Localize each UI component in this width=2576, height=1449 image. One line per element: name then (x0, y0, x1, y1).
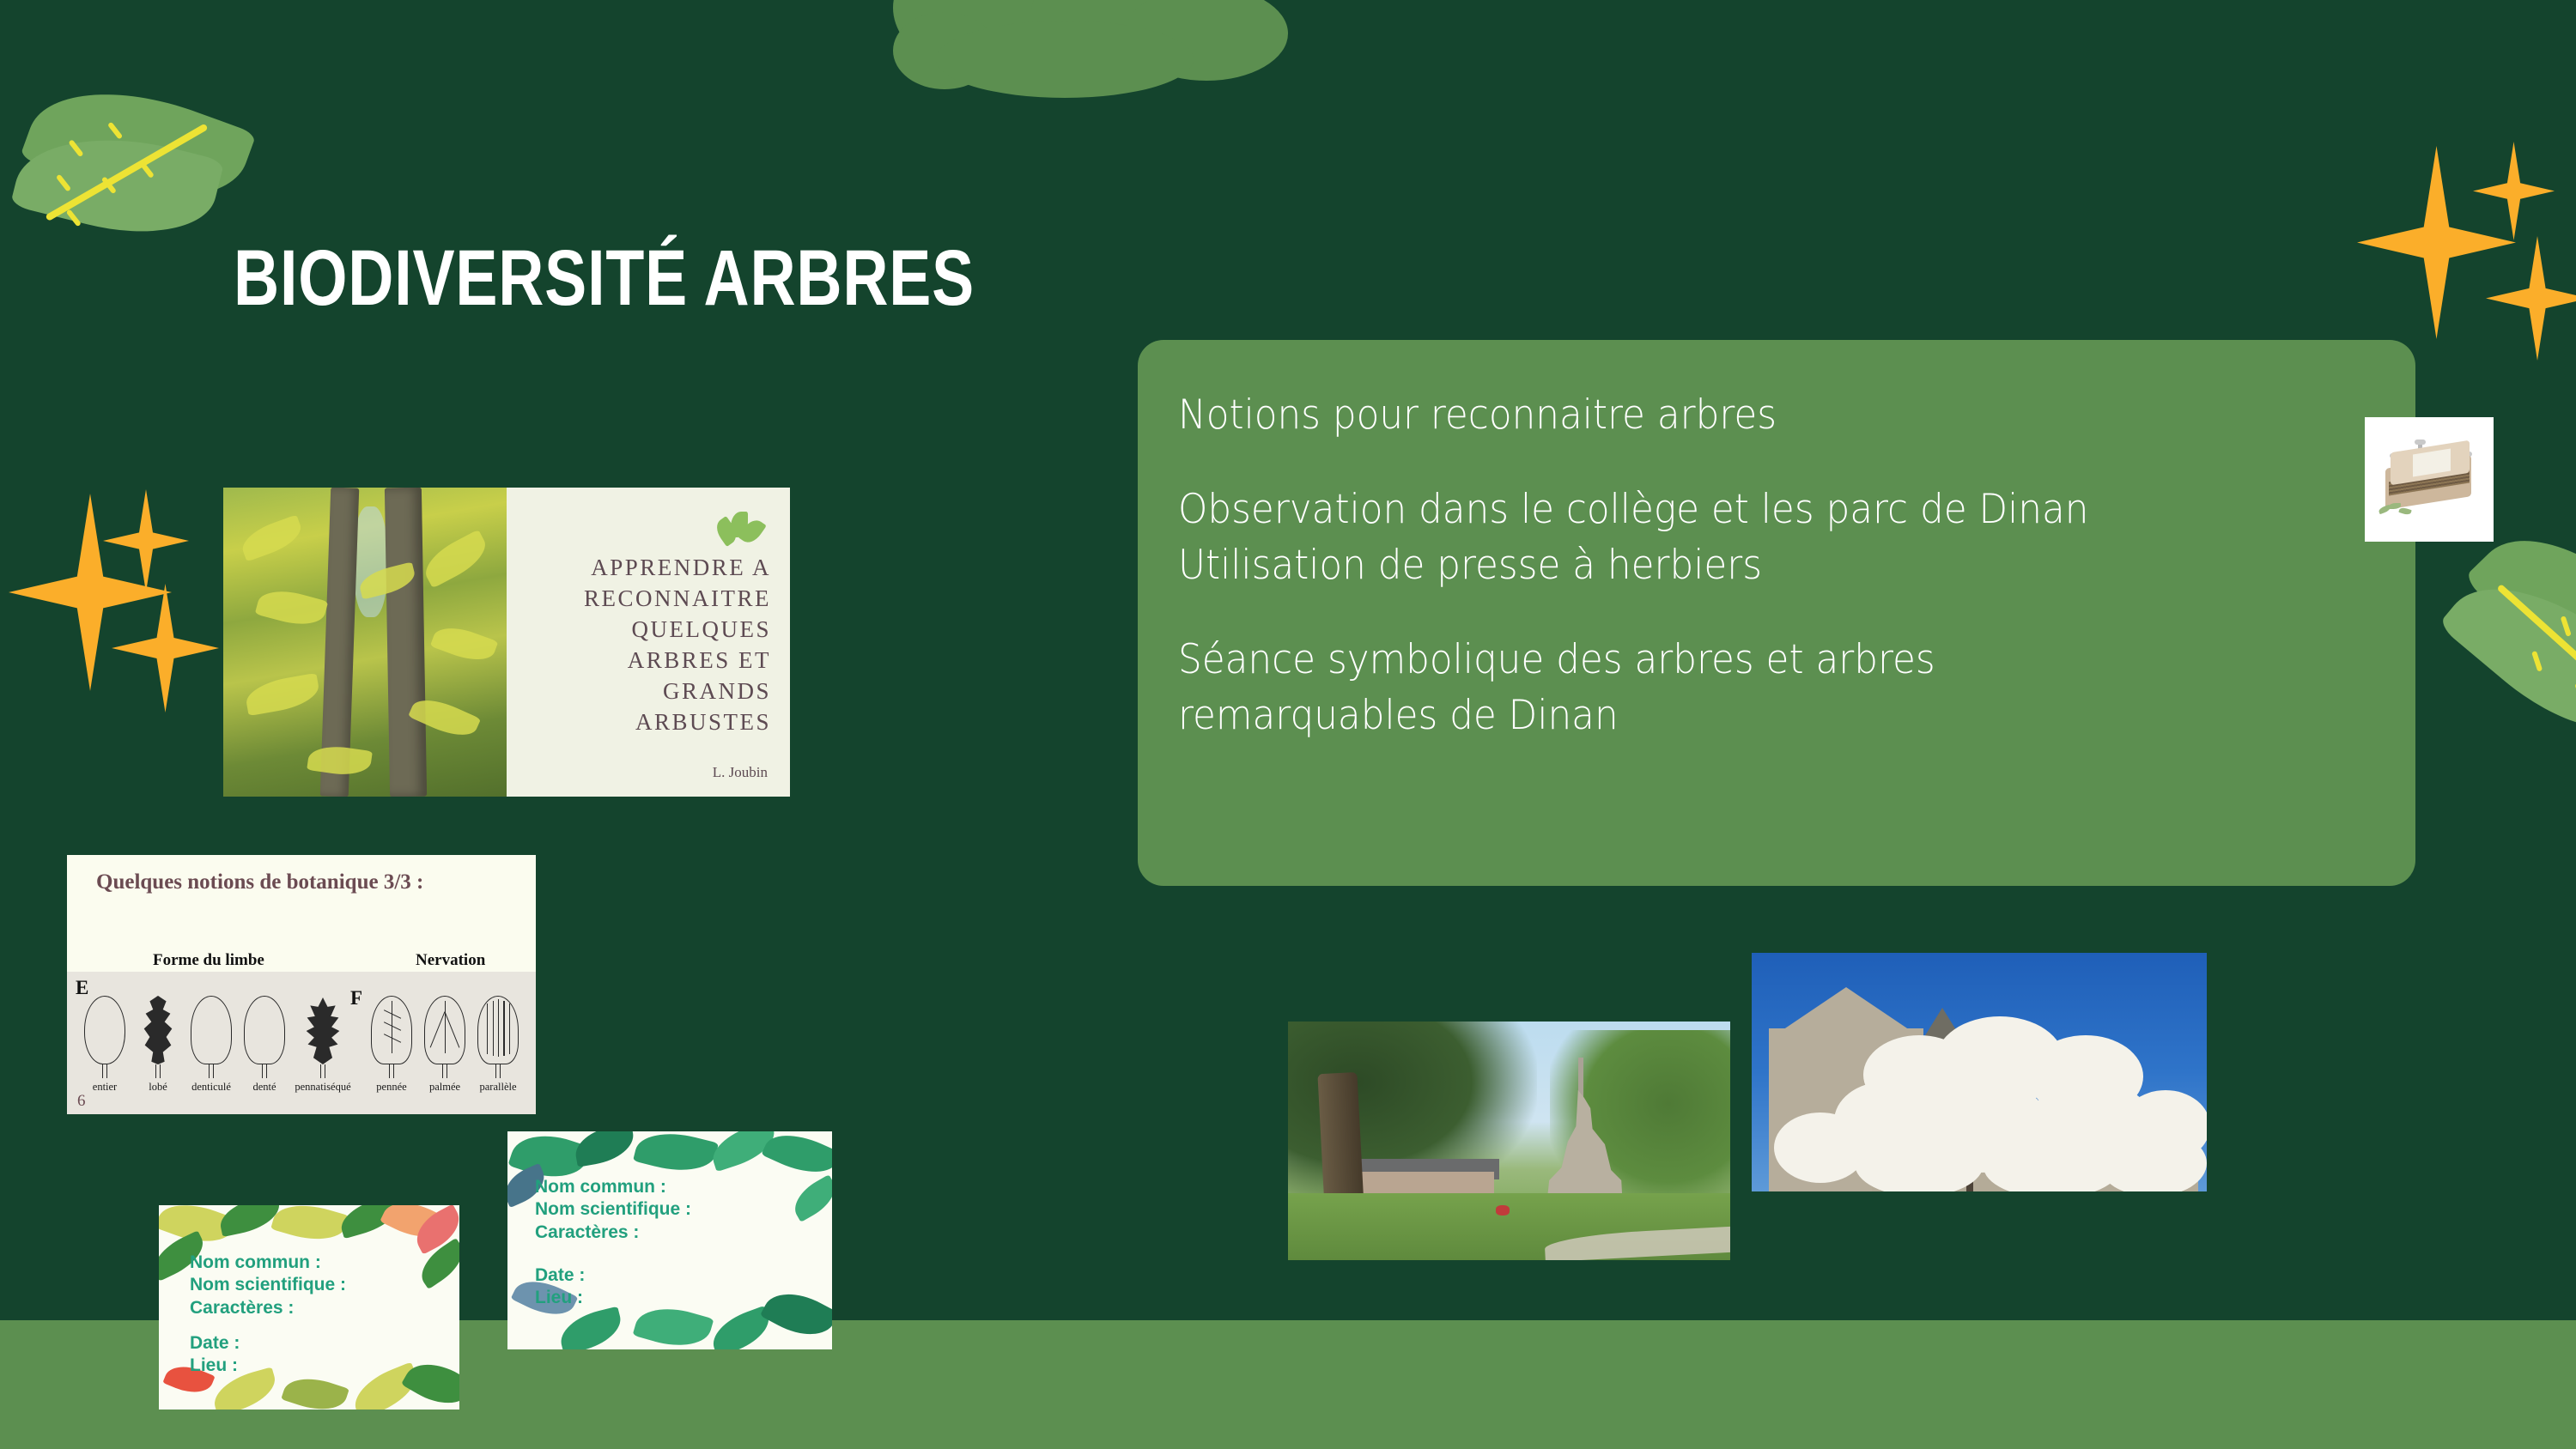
panel-line-3b: remarquables de Dinan (1178, 692, 1619, 739)
photo-park-dinan (1288, 1022, 1730, 1260)
photo-herbarium-press (2365, 417, 2494, 542)
botany-shape-pennatiseque: pennatiséqué (292, 997, 354, 1094)
photo-magnolia-tree (1752, 953, 2207, 1191)
book-title-line-1: RECONNAITRE (533, 584, 771, 615)
botany-title: Quelques notions de botanique 3/3 : (96, 870, 423, 894)
book-cover-image: APPRENDRE A RECONNAITRE QUELQUES ARBRES … (223, 488, 790, 797)
botany-diagram-image: Quelques notions de botanique 3/3 : Form… (67, 855, 536, 1114)
panel-line-1: Notions pour reconnaitre arbres (1178, 388, 2296, 443)
sparkle-icon-right-medium (2486, 236, 2576, 361)
herbarium-card-monstera: Nom commun : Nom scientifique : Caractèr… (507, 1131, 832, 1349)
herbarium-fields-collection-monstera: Date : Lieu : (535, 1264, 585, 1310)
panel-line-3: Séance symbolique des arbres et arbres r… (1178, 633, 2296, 743)
herbarium-fields-identity-monstera: Nom commun : Nom scientifique : Caractèr… (535, 1176, 691, 1244)
herbarium-fields-collection-tropical: Date : Lieu : (190, 1332, 240, 1378)
herbarium-fields-identity-tropical: Nom commun : Nom scientifique : Caractèr… (190, 1252, 346, 1319)
botany-shape-dente: denté (239, 996, 290, 1094)
book-author: L. Joubin (713, 764, 768, 781)
botany-shape-lobe: lobé (132, 996, 184, 1094)
botany-page-number: 6 (77, 1092, 86, 1111)
panel-line-2b: Utilisation de presse à herbiers (1178, 542, 1762, 589)
panel-line-2a: Observation dans le collège et les parc … (1178, 486, 2088, 533)
sparkle-icon-left-medium (112, 584, 219, 712)
book-title-line-4: GRANDS (533, 676, 771, 707)
botany-venation-pennee: pennée (366, 996, 417, 1094)
book-cover-photo (223, 488, 507, 797)
leaf-icon-right (2427, 543, 2576, 804)
content-panel-text: Notions pour reconnaitre arbres Observat… (1178, 388, 2296, 743)
botany-venation-parallele: parallèle (472, 996, 524, 1094)
botany-header-venation: Nervation (416, 951, 485, 970)
panel-line-3a: Séance symbolique des arbres et arbres (1178, 636, 1935, 683)
slide-title: BIODIVERSITÉ ARBRES (234, 239, 975, 318)
bush-decoration (876, 0, 1305, 98)
botany-limb-shapes: entier lobé denticulé denté pennatiséqué (79, 996, 355, 1094)
herbarium-card-tropical: Nom commun : Nom scientifique : Caractèr… (159, 1205, 459, 1410)
botany-shape-denticule: denticulé (185, 996, 237, 1094)
book-title-line-2: QUELQUES (533, 615, 771, 646)
botany-venation-types: pennée palmée (366, 996, 526, 1094)
sparkle-icon-right-small (2473, 142, 2555, 240)
presentation-slide: BIODIVERSITÉ ARBRES Notions pour reconna… (0, 0, 2576, 1449)
book-title: APPRENDRE A RECONNAITRE QUELQUES ARBRES … (533, 553, 771, 737)
botany-shape-entier: entier (79, 996, 131, 1094)
botany-header-limb: Forme du limbe (153, 951, 264, 970)
book-cover-front: APPRENDRE A RECONNAITRE QUELQUES ARBRES … (507, 488, 790, 797)
book-title-line-0: APPRENDRE A (533, 553, 771, 584)
botany-venation-palmee: palmée (419, 996, 471, 1094)
panel-line-2: Observation dans le collège et les parc … (1178, 482, 2296, 593)
pressed-plant-icon (2379, 501, 2413, 518)
sparkle-icon-left-small (103, 489, 189, 592)
leaf-sprig-icon (718, 510, 761, 548)
book-title-line-5: ARBUSTES (533, 707, 771, 738)
book-title-line-3: ARBRES ET (533, 646, 771, 676)
sparkle-icon-right-large (2357, 146, 2516, 339)
